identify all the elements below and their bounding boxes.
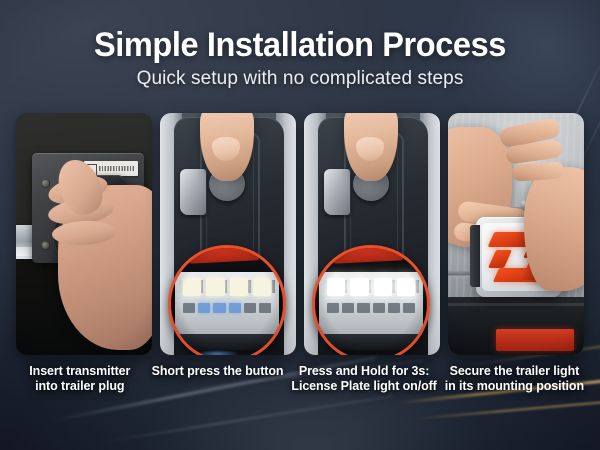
page-subtitle: Quick setup with no complicated steps <box>0 67 600 90</box>
caption-line-2: into trailer plug <box>16 379 144 394</box>
step-image-2 <box>160 113 296 355</box>
photo-short-press-button <box>160 113 296 355</box>
step-caption-3: Press and Hold for 3s: License Plate lig… <box>291 362 436 408</box>
header: Simple Installation Process Quick setup … <box>0 0 600 90</box>
zoom-inset-circle-2 <box>168 245 286 355</box>
caption-line-2: in its mounting position <box>445 379 584 394</box>
finger <box>511 161 564 182</box>
caption-line-1: Press and Hold for 3s: <box>291 364 436 379</box>
screw <box>41 241 50 250</box>
fingertip <box>356 137 384 161</box>
fingertip <box>212 137 240 161</box>
inset-vignette <box>171 248 283 355</box>
step-image-4 <box>448 113 584 355</box>
step-image-row <box>16 113 584 355</box>
step-caption-row: Insert transmitter into trailer plug Sho… <box>16 362 584 408</box>
lens-segment <box>488 250 512 268</box>
photo-transmitter-into-plug <box>16 113 152 355</box>
hand-right <box>524 167 584 291</box>
zoom-inset-circle-3 <box>312 245 430 355</box>
page-title: Simple Installation Process <box>14 26 587 64</box>
inset-vignette <box>315 248 427 355</box>
photo-press-and-hold-button <box>304 113 440 355</box>
light-housing-side <box>470 225 480 287</box>
step-caption-2: Short press the button <box>152 362 284 408</box>
chrome-trim <box>324 169 350 215</box>
promo-banner: Simple Installation Process Quick setup … <box>0 0 600 450</box>
photo-mounting-trailer-light <box>448 113 584 355</box>
screw <box>41 179 50 188</box>
caption-line-1: Insert transmitter <box>16 364 144 379</box>
caption-line-1: Secure the trailer light <box>445 364 584 379</box>
caption-line-1: Short press the button <box>152 364 284 379</box>
chrome-trim <box>180 169 206 215</box>
step-image-3 <box>304 113 440 355</box>
caption-line-2: License Plate light on/off <box>291 379 436 394</box>
step-image-1 <box>16 113 152 355</box>
red-reflector-strip <box>496 329 574 351</box>
step-caption-4: Secure the trailer light in its mounting… <box>445 362 584 408</box>
step-caption-1: Insert transmitter into trailer plug <box>16 362 144 408</box>
